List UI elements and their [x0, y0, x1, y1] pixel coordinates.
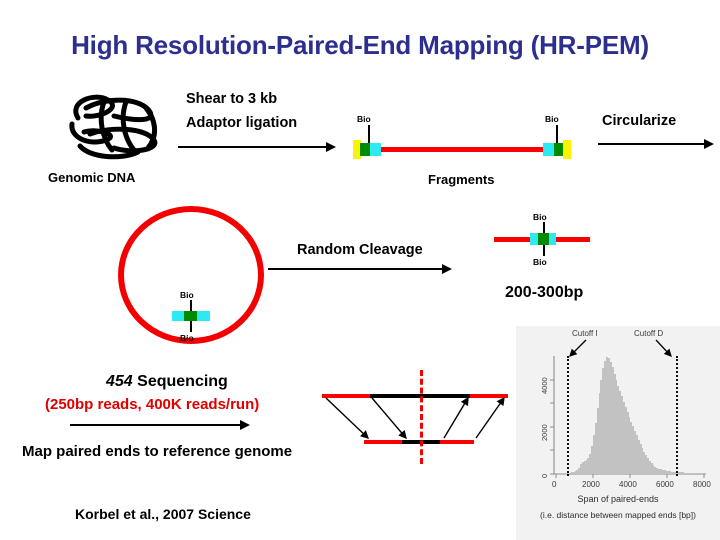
circularize-arrow-line: [598, 143, 706, 145]
x-tick-label-0: 0: [552, 480, 556, 489]
paired-end-connector-arrows: [318, 368, 510, 466]
sequencing-reads-label: (250bp reads, 400K reads/run): [45, 396, 259, 415]
cutoff-d-line: [676, 356, 678, 476]
fragment-right-bio-label: Bio: [545, 114, 559, 124]
x-axis-label: Span of paired-ends: [516, 494, 720, 504]
paired-end-span-histogram: Cutoff I Cutoff D: [516, 326, 720, 540]
sequencing-word-label: Sequencing: [133, 373, 228, 390]
fragment-left-bio-leader: [368, 125, 370, 143]
genomic-dna-blob-icon: [60, 88, 170, 163]
fragment-size-label: 200-300bp: [505, 283, 583, 303]
shear-arrow-head: [326, 142, 336, 152]
y-tick-label-0: 0: [540, 474, 549, 478]
circle-bio-bottom-leader: [190, 321, 192, 332]
cleaved-bio-bottom-leader: [543, 245, 545, 256]
x-tick-label-6000: 6000: [656, 480, 674, 489]
cleaved-bio-top-label: Bio: [533, 212, 547, 222]
page-title: High Resolution-Paired-End Mapping (HR-P…: [0, 30, 720, 61]
circularize-label: Circularize: [602, 113, 676, 129]
circle-adaptor-green: [184, 311, 197, 321]
fragment-right-yellow-cap: [563, 140, 571, 159]
cleaved-bio-top-leader: [543, 222, 545, 233]
slide-canvas: High Resolution-Paired-End Mapping (HR-P…: [0, 0, 720, 540]
shear-step-line2: Adaptor ligation: [186, 115, 297, 131]
histogram-bar: [704, 473, 706, 474]
fragment-right-cyan-block: [543, 143, 554, 156]
cutoff-i-line: [567, 356, 569, 476]
x-tick-label-8000: 8000: [693, 480, 711, 489]
fragment-left-green-block: [360, 143, 370, 156]
sequencing-arrow-line: [70, 424, 242, 426]
citation-label: Korbel et al., 2007 Science: [75, 506, 251, 524]
random-cleavage-label: Random Cleavage: [297, 242, 423, 258]
fragments-label: Fragments: [428, 172, 494, 188]
paired-end-mapping-diagram: [318, 368, 510, 466]
circle-bio-bottom-label: Bio: [180, 333, 194, 343]
sequencing-heading: 454 Sequencing: [106, 372, 228, 392]
cleaved-adaptor-green: [538, 233, 549, 245]
y-tick-label-4000: 4000: [540, 377, 549, 394]
fragment-left-cyan-block: [370, 143, 381, 156]
y-tick-label-2000: 2000: [540, 424, 549, 441]
shear-arrow-line: [178, 146, 328, 148]
fragment-left-bio-label: Bio: [357, 114, 371, 124]
circularize-arrow-head: [704, 139, 714, 149]
x-tick-label-4000: 4000: [619, 480, 637, 489]
breakpoint-dashed-line: [420, 370, 423, 464]
map-paired-ends-label: Map paired ends to reference genome: [22, 443, 292, 462]
x-axis-sublabel: (i.e. distance between mapped ends [bp]): [516, 510, 720, 520]
sequencing-platform-label: 454: [106, 373, 133, 390]
fragment-right-bio-leader: [556, 125, 558, 143]
histogram-bars: [556, 356, 704, 474]
sequencing-arrow-head: [240, 420, 250, 430]
random-cleavage-arrow-head: [442, 264, 452, 274]
fragment-red-strand: [381, 147, 543, 152]
cleaved-bio-bottom-label: Bio: [533, 257, 547, 267]
random-cleavage-arrow-line: [268, 268, 444, 270]
genomic-dna-label: Genomic DNA: [48, 170, 135, 186]
shear-step-line1: Shear to 3 kb: [186, 91, 277, 107]
circle-bio-top-leader: [190, 300, 192, 311]
circle-bio-top-label: Bio: [180, 290, 194, 300]
x-tick-label-2000: 2000: [582, 480, 600, 489]
